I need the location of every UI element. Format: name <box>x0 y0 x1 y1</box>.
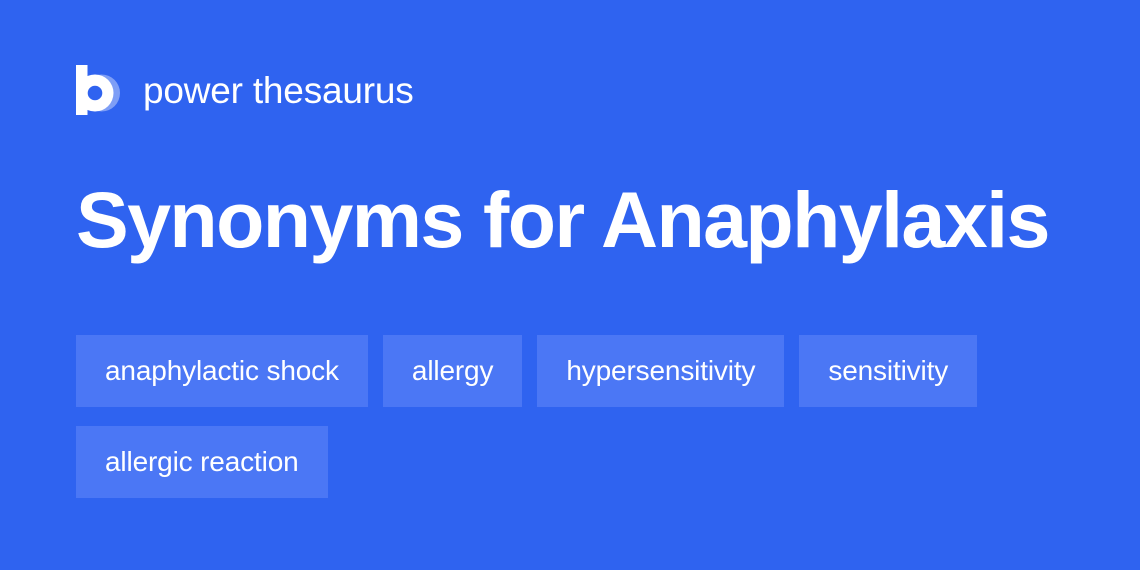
synonym-chip[interactable]: anaphylactic shock <box>76 335 368 407</box>
synonyms-card: power thesaurus Synonyms for Anaphylaxis… <box>0 0 1140 570</box>
power-thesaurus-b-logo-icon <box>76 65 120 115</box>
brand-lockup[interactable]: power thesaurus <box>76 62 414 118</box>
page-title: Synonyms for Anaphylaxis <box>76 178 1076 262</box>
synonym-list: anaphylactic shock allergy hypersensitiv… <box>76 335 1086 498</box>
synonym-chip[interactable]: allergy <box>383 335 522 407</box>
synonym-chip[interactable]: allergic reaction <box>76 426 328 498</box>
synonym-chip[interactable]: sensitivity <box>799 335 977 407</box>
synonym-chip[interactable]: hypersensitivity <box>537 335 784 407</box>
brand-name: power thesaurus <box>143 72 414 109</box>
